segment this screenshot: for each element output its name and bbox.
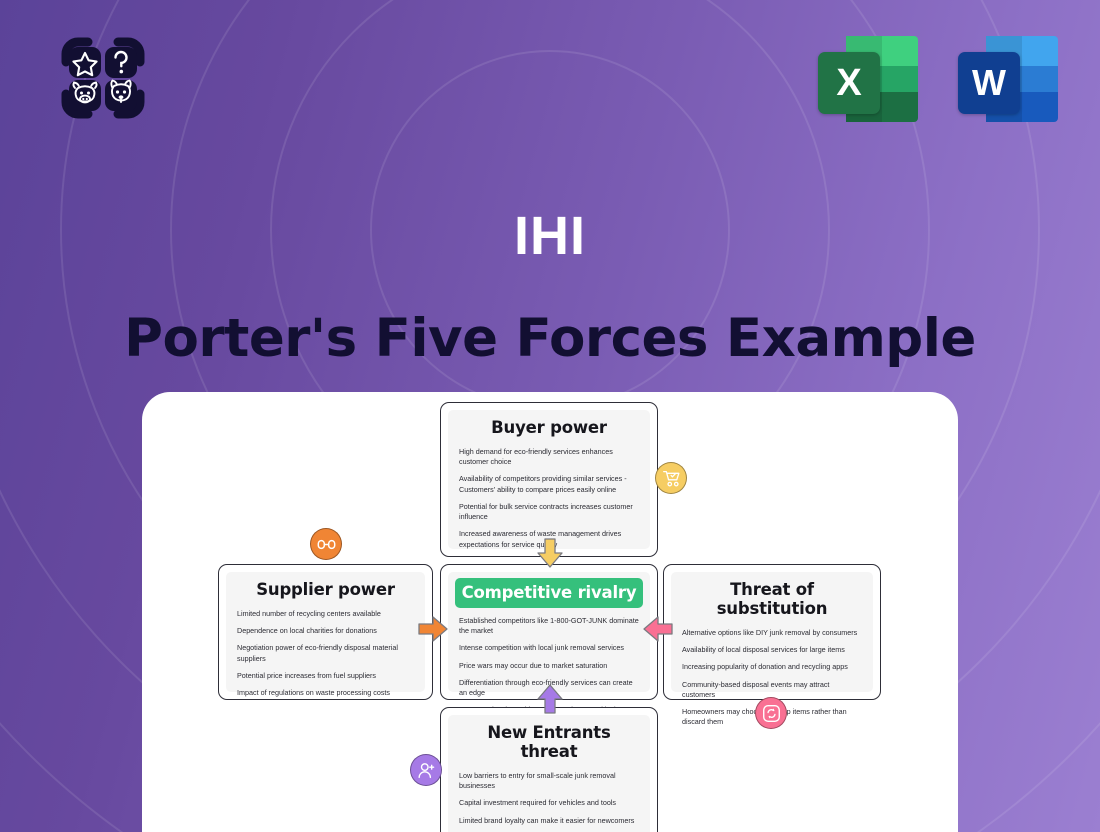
- link-chain-icon: [317, 535, 336, 554]
- list-item: Capital investment required for vehicles…: [459, 798, 639, 808]
- list-item: Dependence on local charities for donati…: [237, 626, 414, 636]
- list-item: Established competitors like 1-800-GOT-J…: [459, 616, 639, 636]
- force-box-rivalry-title: Competitive rivalry: [455, 578, 643, 608]
- force-box-substitution-inner: Threat of substitution Alternative optio…: [671, 572, 873, 692]
- badge-supplier[interactable]: [310, 528, 342, 560]
- arrow-up-icon: [534, 683, 566, 714]
- list-item: Negotiation power of eco-friendly dispos…: [237, 643, 414, 663]
- arrow-left-icon: [642, 613, 673, 645]
- force-box-substitution-title: Threat of substitution: [682, 580, 862, 618]
- shopping-cart-icon: [662, 469, 681, 488]
- force-box-buyer-title: Buyer power: [459, 418, 639, 437]
- force-box-entrants[interactable]: New Entrants threat Low barriers to entr…: [440, 707, 658, 832]
- list-item: Low barriers to entry for small-scale ju…: [459, 771, 639, 791]
- porters-five-forces-diagram: Buyer power High demand for eco-friendly…: [142, 392, 958, 832]
- list-item: Increasing popularity of donation and re…: [682, 662, 862, 672]
- force-box-entrants-inner: New Entrants threat Low barriers to entr…: [448, 715, 650, 832]
- force-box-supplier-inner: Supplier power Limited number of recycli…: [226, 572, 425, 692]
- page-root: X W IHI Porter's Five Forces Example Buy…: [0, 0, 1100, 832]
- force-box-entrants-list: Low barriers to entry for small-scale ju…: [459, 771, 639, 832]
- list-item: Potential price increases from fuel supp…: [237, 671, 414, 681]
- force-box-buyer-inner: Buyer power High demand for eco-friendly…: [448, 410, 650, 549]
- scan-frame-star-question-cow-dog-icon: [46, 32, 160, 124]
- force-box-supplier-list: Limited number of recycling centers avai…: [237, 609, 414, 698]
- badge-entrants[interactable]: [410, 754, 442, 786]
- refresh-sync-icon: [762, 704, 781, 723]
- force-box-supplier[interactable]: Supplier power Limited number of recycli…: [218, 564, 433, 700]
- arrow-down-icon: [534, 538, 566, 569]
- excel-icon[interactable]: X: [814, 28, 918, 124]
- app-logo[interactable]: [46, 32, 160, 124]
- list-item: Potential for bulk service contracts inc…: [459, 502, 639, 522]
- list-item: Availability of competitors providing si…: [459, 474, 639, 494]
- force-box-supplier-title: Supplier power: [237, 580, 414, 599]
- brand-name: IHI: [0, 205, 1100, 267]
- list-item: Limited brand loyalty can make it easier…: [459, 816, 639, 826]
- force-box-buyer-list: High demand for eco-friendly services en…: [459, 447, 639, 550]
- badge-substitution[interactable]: [755, 697, 787, 729]
- page-title: Porter's Five Forces Example: [0, 308, 1100, 369]
- diagram-canvas: Buyer power High demand for eco-friendly…: [142, 392, 958, 832]
- force-box-rivalry-inner: Competitive rivalry Established competit…: [448, 572, 650, 692]
- force-box-rivalry[interactable]: Competitive rivalry Established competit…: [440, 564, 658, 700]
- force-box-buyer[interactable]: Buyer power High demand for eco-friendly…: [440, 402, 658, 557]
- list-item: Limited number of recycling centers avai…: [237, 609, 414, 619]
- list-item: Intense competition with local junk remo…: [459, 643, 639, 653]
- list-item: Impact of regulations on waste processin…: [237, 688, 414, 698]
- badge-buyer[interactable]: [655, 462, 687, 494]
- office-icons: X W: [814, 28, 1058, 124]
- arrow-right-icon: [418, 613, 449, 645]
- list-item: Alternative options like DIY junk remova…: [682, 628, 862, 638]
- word-icon[interactable]: W: [954, 28, 1058, 124]
- list-item: High demand for eco-friendly services en…: [459, 447, 639, 467]
- force-box-substitution[interactable]: Threat of substitution Alternative optio…: [663, 564, 881, 700]
- list-item: Availability of local disposal services …: [682, 645, 862, 655]
- word-letter: W: [958, 52, 1020, 114]
- list-item: Price wars may occur due to market satur…: [459, 661, 639, 671]
- force-box-entrants-title: New Entrants threat: [459, 723, 639, 761]
- excel-letter: X: [818, 52, 880, 114]
- add-user-icon: [417, 761, 436, 780]
